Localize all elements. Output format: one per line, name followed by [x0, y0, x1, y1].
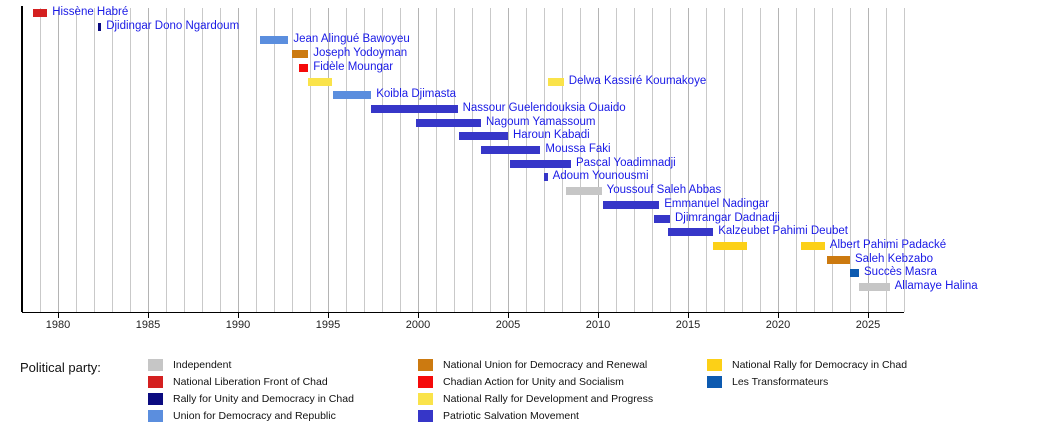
legend-label: Rally for Unity and Democracy in Chad [173, 393, 354, 405]
timeline-bar-label: Pascal Yoadimnadji [576, 158, 676, 169]
x-axis-tick [148, 313, 149, 318]
timeline-bar-label: Haroun Kabadi [513, 130, 590, 141]
timeline-bar-label: Moussa Faki [545, 144, 610, 155]
legend-label: National Rally for Development and Progr… [443, 393, 653, 405]
legend-swatch [148, 410, 163, 422]
timeline-bar-label: Nagoum Yamassoum [486, 117, 596, 128]
gridline [706, 8, 707, 312]
x-axis-tick-label: 1995 [303, 319, 353, 331]
x-axis-tick-label: 2005 [483, 319, 533, 331]
legend-item[interactable]: Union for Democracy and Republic [148, 407, 354, 424]
timeline-bar[interactable] [371, 105, 457, 113]
timeline-bar-label: Kalzeubet Pahimi Deubet [718, 226, 848, 237]
timeline-bar-label: Djimrangar Dadnadji [675, 213, 780, 224]
legend-swatch [148, 359, 163, 371]
gridline [796, 8, 797, 312]
x-axis-tick [328, 313, 329, 318]
legend-label: Les Transformateurs [732, 376, 828, 388]
timeline-bar[interactable] [827, 256, 850, 264]
gridline [94, 8, 95, 312]
gridline [490, 8, 491, 312]
gridline [40, 8, 41, 312]
gridline [742, 8, 743, 312]
gridline [832, 8, 833, 312]
gridline [778, 8, 779, 312]
gridline [202, 8, 203, 312]
timeline-bar[interactable] [544, 173, 548, 181]
timeline-bar[interactable] [713, 242, 747, 250]
gridline [130, 8, 131, 312]
legend-item[interactable]: Patriotic Salvation Movement [418, 407, 653, 424]
timeline-bar[interactable] [98, 23, 102, 31]
legend-swatch [707, 359, 722, 371]
timeline-bar[interactable] [801, 242, 824, 250]
x-axis-tick-label: 1985 [123, 319, 173, 331]
x-axis-tick-label: 2020 [753, 319, 803, 331]
gridline [850, 8, 851, 312]
gridline [472, 8, 473, 312]
x-axis-tick [418, 313, 419, 318]
gridline [184, 8, 185, 312]
timeline-bar-label: Adoum Younousmi [553, 171, 649, 182]
legend-label: National Rally for Democracy in Chad [732, 359, 907, 371]
legend-swatch [148, 393, 163, 405]
timeline-bar-label: Fidèle Moungar [313, 62, 393, 73]
gridline [418, 8, 419, 312]
gridline [436, 8, 437, 312]
legend-swatch [418, 410, 433, 422]
legend-column: IndependentNational Liberation Front of … [148, 356, 354, 424]
legend-swatch [418, 359, 433, 371]
legend-label: National Union for Democracy and Renewal [443, 359, 647, 371]
x-axis-tick-label: 2010 [573, 319, 623, 331]
gridline [454, 8, 455, 312]
gridline [148, 8, 149, 312]
x-axis-tick-label: 2025 [843, 319, 893, 331]
x-axis-tick-label: 1980 [33, 319, 83, 331]
timeline-bar-label: Succès Masra [864, 267, 937, 278]
legend-label: Chadian Action for Unity and Socialism [443, 376, 624, 388]
gridline [166, 8, 167, 312]
timeline-bar-label: Allamaye Halina [895, 281, 978, 292]
timeline-bar[interactable] [333, 91, 371, 99]
legend-item[interactable]: Rally for Unity and Democracy in Chad [148, 390, 354, 407]
x-axis-line [22, 312, 904, 313]
timeline-bar[interactable] [510, 160, 571, 168]
x-axis-tick-label: 2000 [393, 319, 443, 331]
timeline-bar[interactable] [668, 228, 713, 236]
x-axis-tick [238, 313, 239, 318]
legend-item[interactable]: National Union for Democracy and Renewal [418, 356, 653, 373]
legend-label: Independent [173, 359, 231, 371]
legend-item[interactable]: National Liberation Front of Chad [148, 373, 354, 390]
legend-item[interactable]: Independent [148, 356, 354, 373]
timeline-bar[interactable] [292, 50, 308, 58]
gridline [274, 8, 275, 312]
gridline [112, 8, 113, 312]
timeline-bar-label: Jean Alingué Bawoyeu [293, 34, 409, 45]
legend-label: National Liberation Front of Chad [173, 376, 328, 388]
legend-column: National Union for Democracy and Renewal… [418, 356, 653, 424]
legend-label: Union for Democracy and Republic [173, 410, 336, 422]
timeline-bar-label: Joseph Yodoyman [313, 48, 407, 59]
timeline-bar-label: Djidingar Dono Ngardoum [106, 21, 239, 32]
timeline-bar[interactable] [481, 146, 540, 154]
x-axis-tick [58, 313, 59, 318]
prime-ministers-timeline-chart: 1980198519901995200020052010201520202025… [0, 0, 1050, 430]
legend-label: Patriotic Salvation Movement [443, 410, 579, 422]
timeline-bar-label: Nassour Guelendouksia Ouaido [463, 103, 626, 114]
timeline-bar-label: Youssouf Saleh Abbas [607, 185, 722, 196]
gridline [220, 8, 221, 312]
timeline-bar[interactable] [260, 36, 289, 44]
timeline-bar-label: Hissène Habré [52, 7, 128, 18]
legend-item[interactable]: National Rally for Development and Progr… [418, 390, 653, 407]
x-axis-tick [868, 313, 869, 318]
legend-item[interactable]: National Rally for Democracy in Chad [707, 356, 907, 373]
gridline [238, 8, 239, 312]
gridline [724, 8, 725, 312]
legend-column: National Rally for Democracy in ChadLes … [707, 356, 907, 390]
gridline [58, 8, 59, 312]
x-axis-tick [508, 313, 509, 318]
gridline [760, 8, 761, 312]
x-axis-tick-label: 2015 [663, 319, 713, 331]
gridline [256, 8, 257, 312]
timeline-bar-label: Delwa Kassiré Koumakoye [569, 76, 706, 87]
y-axis-line [21, 6, 23, 312]
legend-item[interactable]: Les Transformateurs [707, 373, 907, 390]
legend-swatch [148, 376, 163, 388]
legend-item[interactable]: Chadian Action for Unity and Socialism [418, 373, 653, 390]
x-axis-tick [598, 313, 599, 318]
timeline-bar[interactable] [459, 132, 508, 140]
legend-swatch [707, 376, 722, 388]
x-axis-tick [688, 313, 689, 318]
timeline-bar[interactable] [859, 283, 890, 291]
timeline-bar-label: Koibla Djimasta [376, 89, 456, 100]
gridline [310, 8, 311, 312]
x-axis-tick-label: 1990 [213, 319, 263, 331]
timeline-bar-label: Saleh Kebzabo [855, 254, 933, 265]
timeline-bar[interactable] [416, 119, 481, 127]
gridline [814, 8, 815, 312]
timeline-bar[interactable] [548, 78, 564, 86]
timeline-bar-label: Emmanuel Nadingar [664, 199, 769, 210]
legend-title: Political party: [20, 360, 101, 375]
timeline-bar[interactable] [299, 64, 308, 72]
timeline-bar[interactable] [603, 201, 659, 209]
timeline-bar[interactable] [33, 9, 47, 17]
legend-swatch [418, 393, 433, 405]
timeline-bar-label: Albert Pahimi Padacké [830, 240, 946, 251]
gridline [76, 8, 77, 312]
timeline-bar[interactable] [566, 187, 602, 195]
legend-swatch [418, 376, 433, 388]
legend: Political party: IndependentNational Lib… [0, 352, 1050, 430]
timeline-plot-area: 1980198519901995200020052010201520202025… [0, 0, 1050, 312]
timeline-bar[interactable] [654, 215, 670, 223]
x-axis-tick [778, 313, 779, 318]
timeline-bar[interactable] [850, 269, 859, 277]
timeline-bar[interactable] [308, 78, 331, 86]
gridline [688, 8, 689, 312]
